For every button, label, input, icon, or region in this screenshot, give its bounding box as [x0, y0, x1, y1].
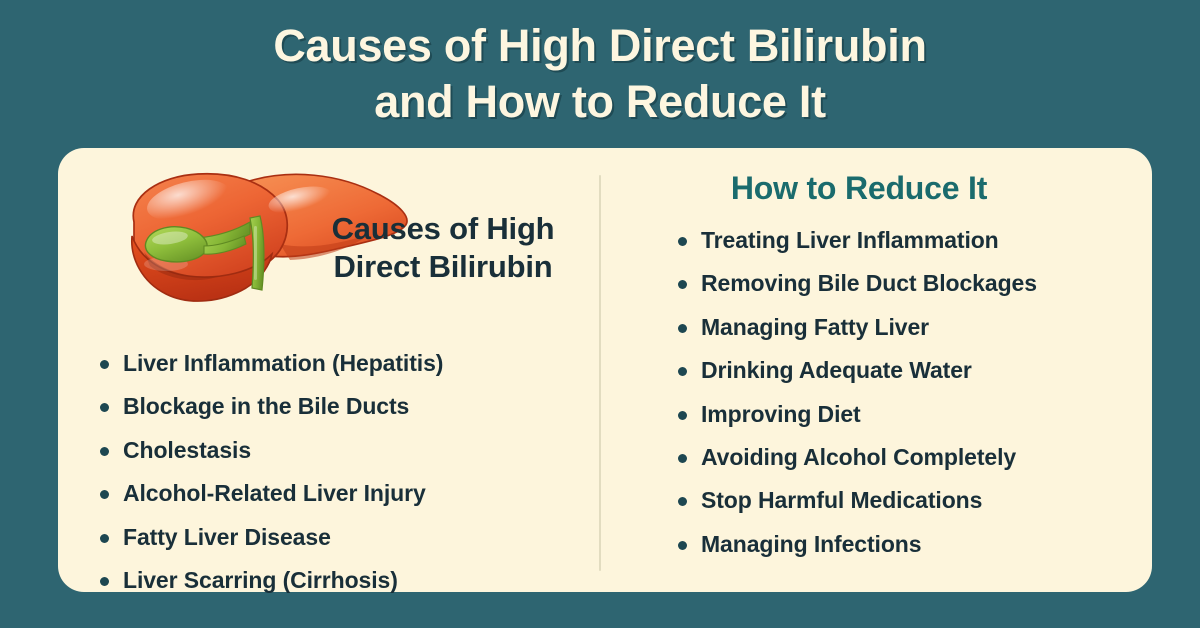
causes-column: Causes of High Direct Bilirubin Liver In…: [58, 148, 599, 592]
list-item-label: Drinking Adequate Water: [701, 357, 972, 383]
list-item-label: Removing Bile Duct Blockages: [701, 270, 1037, 296]
list-item: Liver Inflammation (Hepatitis): [100, 342, 443, 385]
reduce-list: Treating Liver Inflammation Removing Bil…: [678, 219, 1037, 566]
causes-heading: Causes of High Direct Bilirubin: [298, 210, 588, 286]
list-item: Liver Scarring (Cirrhosis): [100, 559, 443, 602]
bullet-dot-icon: [100, 403, 109, 412]
bullet-dot-icon: [678, 497, 687, 506]
list-item: Removing Bile Duct Blockages: [678, 262, 1037, 305]
list-item: Treating Liver Inflammation: [678, 219, 1037, 262]
bullet-dot-icon: [100, 447, 109, 456]
bullet-dot-icon: [678, 324, 687, 333]
bullet-dot-icon: [100, 534, 109, 543]
list-item-label: Cholestasis: [123, 437, 251, 463]
list-item: Managing Fatty Liver: [678, 306, 1037, 349]
list-item-label: Stop Harmful Medications: [701, 487, 982, 513]
bullet-dot-icon: [678, 237, 687, 246]
list-item-label: Treating Liver Inflammation: [701, 227, 999, 253]
header-banner: Causes of High Direct Bilirubin and How …: [0, 0, 1200, 148]
reduce-column: How to Reduce It Treating Liver Inflamma…: [599, 148, 1152, 592]
list-item: Managing Infections: [678, 523, 1037, 566]
list-item-label: Improving Diet: [701, 401, 861, 427]
list-item-label: Managing Fatty Liver: [701, 314, 929, 340]
bullet-dot-icon: [100, 490, 109, 499]
list-item: Avoiding Alcohol Completely: [678, 436, 1037, 479]
content-card: Causes of High Direct Bilirubin Liver In…: [58, 148, 1152, 592]
list-item-label: Liver Inflammation (Hepatitis): [123, 350, 443, 376]
list-item: Blockage in the Bile Ducts: [100, 385, 443, 428]
reduce-heading: How to Reduce It: [599, 170, 1119, 207]
bullet-dot-icon: [100, 360, 109, 369]
bullet-dot-icon: [678, 280, 687, 289]
bullet-dot-icon: [100, 577, 109, 586]
causes-list: Liver Inflammation (Hepatitis) Blockage …: [100, 342, 443, 602]
list-item-label: Alcohol-Related Liver Injury: [123, 480, 426, 506]
list-item: Stop Harmful Medications: [678, 479, 1037, 522]
list-item-label: Fatty Liver Disease: [123, 524, 331, 550]
list-item: Cholestasis: [100, 429, 443, 472]
bullet-dot-icon: [678, 541, 687, 550]
list-item: Fatty Liver Disease: [100, 516, 443, 559]
page-title: Causes of High Direct Bilirubin and How …: [273, 18, 926, 130]
bullet-dot-icon: [678, 411, 687, 420]
bullet-dot-icon: [678, 367, 687, 376]
list-item-label: Managing Infections: [701, 531, 921, 557]
bullet-dot-icon: [678, 454, 687, 463]
list-item: Drinking Adequate Water: [678, 349, 1037, 392]
list-item-label: Liver Scarring (Cirrhosis): [123, 567, 398, 593]
list-item: Alcohol-Related Liver Injury: [100, 472, 443, 515]
list-item: Improving Diet: [678, 393, 1037, 436]
list-item-label: Avoiding Alcohol Completely: [701, 444, 1016, 470]
list-item-label: Blockage in the Bile Ducts: [123, 393, 409, 419]
